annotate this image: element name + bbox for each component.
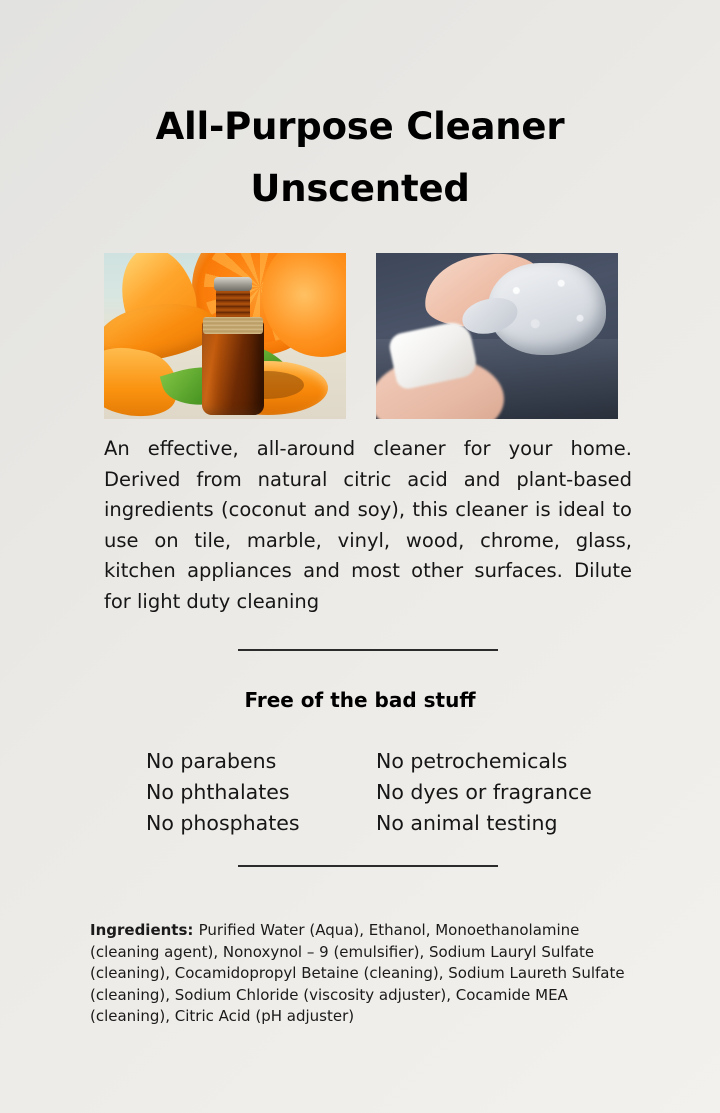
photo-row	[104, 253, 618, 419]
list-item: No phthalates	[146, 777, 376, 808]
divider-bottom	[238, 865, 498, 867]
ingredients-block: Ingredients: Purified Water (Aqua), Etha…	[90, 920, 632, 1028]
free-of-heading: Free of the bad stuff	[0, 688, 720, 712]
list-item: No parabens	[146, 746, 376, 777]
product-description: An effective, all-around cleaner for you…	[104, 434, 632, 617]
bottle-cap	[214, 277, 252, 291]
ingredients-separator: :	[187, 921, 198, 939]
list-item: No dyes or fragrance	[376, 777, 616, 808]
title-line-secondary: Unscented	[0, 158, 720, 220]
list-item: No phosphates	[146, 808, 376, 839]
citrus-oil-bottle-photo	[104, 253, 346, 419]
product-description-text: An effective, all-around cleaner for you…	[104, 437, 632, 613]
amber-bottle-icon	[202, 277, 264, 415]
hand-wiping-counter-photo	[376, 253, 618, 419]
bottle-twine-wrap	[203, 317, 263, 334]
list-item: No petrochemicals	[376, 746, 616, 777]
free-of-column-right: No petrochemicals No dyes or fragrance N…	[376, 746, 616, 839]
divider-top	[238, 649, 498, 651]
ingredients-label: Ingredients	[90, 921, 187, 939]
free-of-column-left: No parabens No phthalates No phosphates	[146, 746, 376, 839]
product-label-sheet: All-Purpose Cleaner Unscented	[0, 0, 720, 1113]
page-title: All-Purpose Cleaner Unscented	[0, 96, 720, 220]
free-of-list: No parabens No phthalates No phosphates …	[146, 746, 616, 839]
title-line-primary: All-Purpose Cleaner	[0, 96, 720, 158]
list-item: No animal testing	[376, 808, 616, 839]
